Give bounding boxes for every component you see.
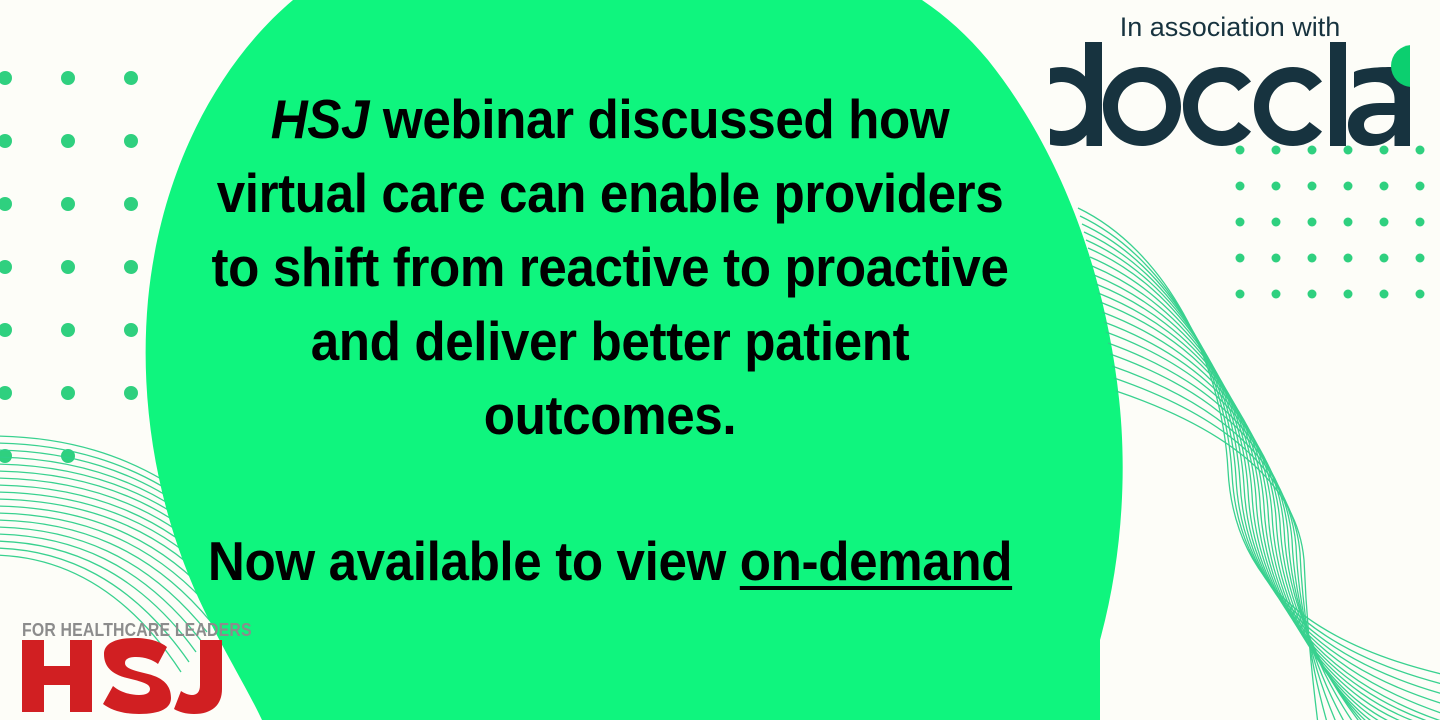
hsj-logo: FOR HEALTHCARE LEADERS xyxy=(22,620,232,714)
headline-line-2: virtual care can enable providers xyxy=(182,156,1038,230)
headline-line-4: and deliver better patient xyxy=(182,304,1038,378)
cta-prefix: Now available to view xyxy=(208,530,740,592)
hsj-wordmark-icon xyxy=(22,638,222,714)
headline-line-1-rest: webinar discussed how xyxy=(369,88,949,150)
hsj-tagline: FOR HEALTHCARE LEADERS xyxy=(22,620,207,640)
headline-line-3: to shift from reactive to proactive xyxy=(182,230,1038,304)
association-block: In association with xyxy=(1040,10,1420,146)
association-label: In association with xyxy=(1040,10,1420,44)
headline-block: HSJ webinar discussed how virtual care c… xyxy=(150,82,1070,596)
cta-line: Now available to view on-demand xyxy=(182,452,1038,596)
on-demand-link[interactable]: on-demand xyxy=(740,530,1012,592)
doccla-wordmark-icon xyxy=(1050,42,1410,146)
headline-line-5: outcomes. xyxy=(182,378,1038,452)
headline-line-1: HSJ webinar discussed how xyxy=(182,82,1038,156)
headline-emphasis: HSJ xyxy=(271,88,369,150)
promo-banner: HSJ webinar discussed how virtual care c… xyxy=(0,0,1440,720)
